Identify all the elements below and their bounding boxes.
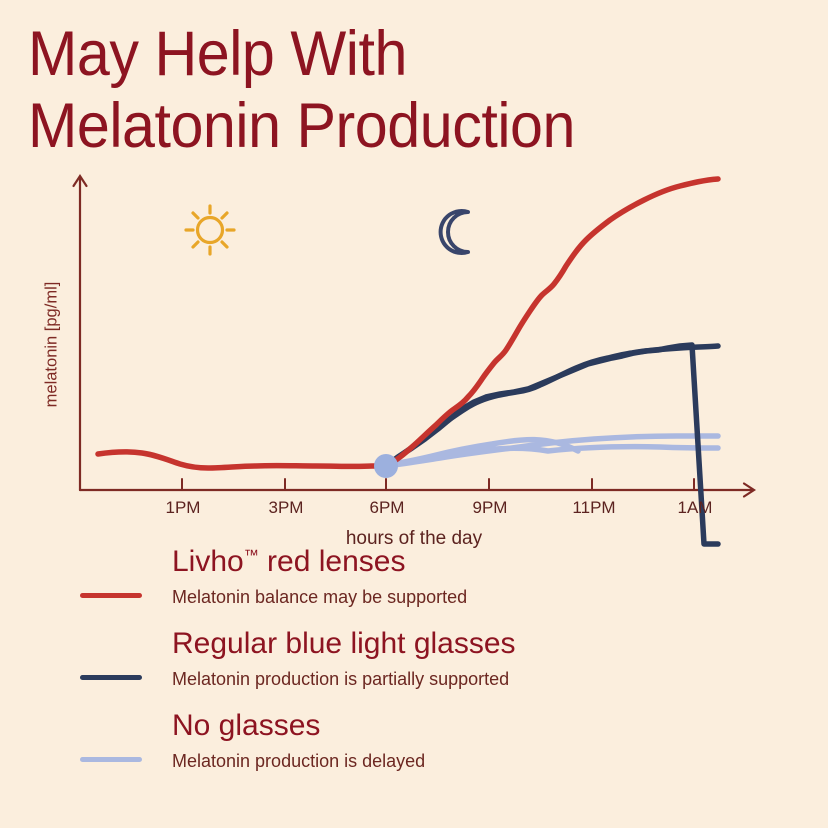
title-line-2: Melatonin Production	[28, 90, 761, 162]
legend-swatch-red	[80, 593, 142, 598]
y-axis-label: melatonin [pg/ml]	[43, 245, 62, 445]
divergence-marker-dot	[374, 454, 398, 478]
x-axis-ticks	[182, 479, 694, 490]
legend-title-red-text: Livho	[172, 545, 244, 578]
sun-icon	[186, 206, 234, 254]
legend-swatch-lightblue	[80, 757, 142, 762]
legend-title-red: Livho™ red lenses	[172, 545, 405, 579]
x-tick-label-1pm: 1PM	[143, 498, 223, 518]
trademark-symbol: ™	[244, 547, 259, 564]
legend-sub-navy: Melatonin production is partially suppor…	[172, 667, 509, 691]
title-line-1: May Help With	[28, 18, 761, 90]
legend-item-blue-light-glasses[interactable]: Regular blue light glasses Melatonin pro…	[0, 647, 828, 729]
x-axis-label: hours of the day	[0, 528, 828, 550]
legend-item-no-glasses[interactable]: No glasses Melatonin production is delay…	[0, 729, 828, 811]
legend-sub-red: Melatonin balance may be supported	[172, 585, 467, 609]
legend-swatch-navy	[80, 675, 142, 680]
infographic-page: May Help With Melatonin Production	[0, 0, 828, 828]
x-tick-label-6pm: 6PM	[347, 498, 427, 518]
x-tick-label-9pm: 9PM	[450, 498, 530, 518]
series-line-red-lenses	[98, 179, 718, 468]
melatonin-chart: melatonin [pg/ml] 1PM 3PM 6PM 9PM 11PM 1…	[0, 160, 828, 560]
x-tick-label-3pm: 3PM	[246, 498, 326, 518]
page-title: May Help With Melatonin Production	[28, 18, 808, 162]
legend-title-red-rest: red lenses	[259, 545, 406, 578]
moon-icon	[441, 211, 468, 253]
x-tick-label-11pm: 11PM	[549, 498, 639, 518]
x-tick-label-1am: 1AM	[655, 498, 735, 518]
chart-legend: Livho™ red lenses Melatonin balance may …	[0, 565, 828, 811]
legend-sub-lightblue: Melatonin production is delayed	[172, 749, 425, 773]
legend-title-lightblue: No glasses	[172, 709, 320, 743]
legend-title-navy: Regular blue light glasses	[172, 627, 516, 661]
